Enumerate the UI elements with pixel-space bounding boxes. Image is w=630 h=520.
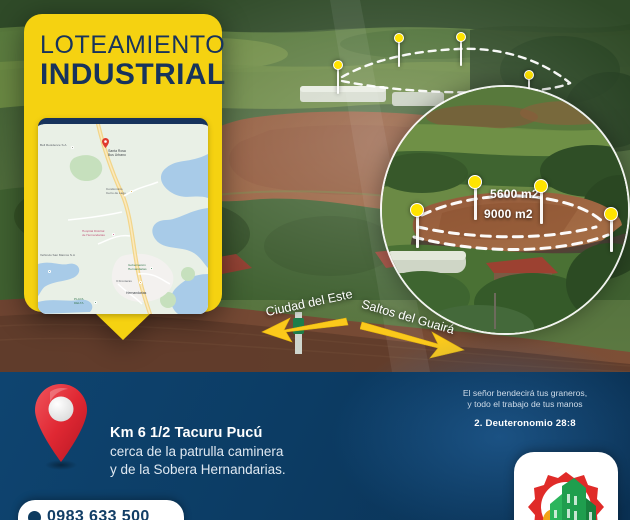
minimap-label: PLAYA DELTA [74,298,84,305]
minimap-red-pin-icon [102,138,109,148]
phone-icon [28,511,41,520]
gear-buildings-logo-icon [522,464,610,520]
measurement-label-9000: 9000 m2 [484,207,533,221]
yellow-info-card: LOTEAMIENTO INDUSTRIAL [24,14,222,340]
minimap-label: Vehiculo San Marcos S.A [40,254,75,258]
address-title: Km 6 1/2 Tacuru Pucú [110,424,410,442]
location-pin-icon [30,382,92,470]
address-block: Km 6 1/2 Tacuru Pucú cerca de la patrull… [110,424,410,479]
headline-line-1: LOTEAMIENTO [40,32,206,58]
phone-chip[interactable]: 0983 633 500 [18,500,184,520]
minimap-label: Gobernación Hernandarias [128,264,147,271]
verse-line-1: El señor bendecirá tus graneros, [430,388,620,399]
bible-verse-block: El señor bendecirá tus graneros, y todo … [430,388,620,429]
minimap-label: 3 Fronteras [116,280,132,284]
verse-reference: 2. Deuteronomio 28:8 [430,418,620,429]
verse-line-2: y todo el trabajo de tus manos [430,399,620,410]
magnified-plot-inset: 5600 m2 9000 m2 [380,85,630,335]
headline-line-2: INDUSTRIAL [40,59,206,91]
minimap-label: Hernandarias [126,292,146,296]
poster-root: 5600 m2 9000 m2 Ciudad del Este Saltos d… [0,0,630,520]
measurement-label-5600: 5600 m2 [490,187,539,201]
phone-number: 0983 633 500 [47,508,150,520]
minimap-label: Santa Rosa Bus Urbano [108,150,126,158]
brand-logo-tile[interactable] [514,452,618,520]
address-line-2: y de la Sobera Hernandarias. [110,461,410,478]
minimap-label: Condominio Cerro de Lago [106,188,126,195]
location-minimap[interactable]: Bell Residence S.A Santa Rosa Bus Urbano… [38,118,208,314]
minimap-label: Hospital Distrital de Hernandarias [82,230,105,237]
minimap-label: Bell Residence S.A [40,144,66,148]
address-line-1: cerca de la patrulla caminera [110,443,410,460]
